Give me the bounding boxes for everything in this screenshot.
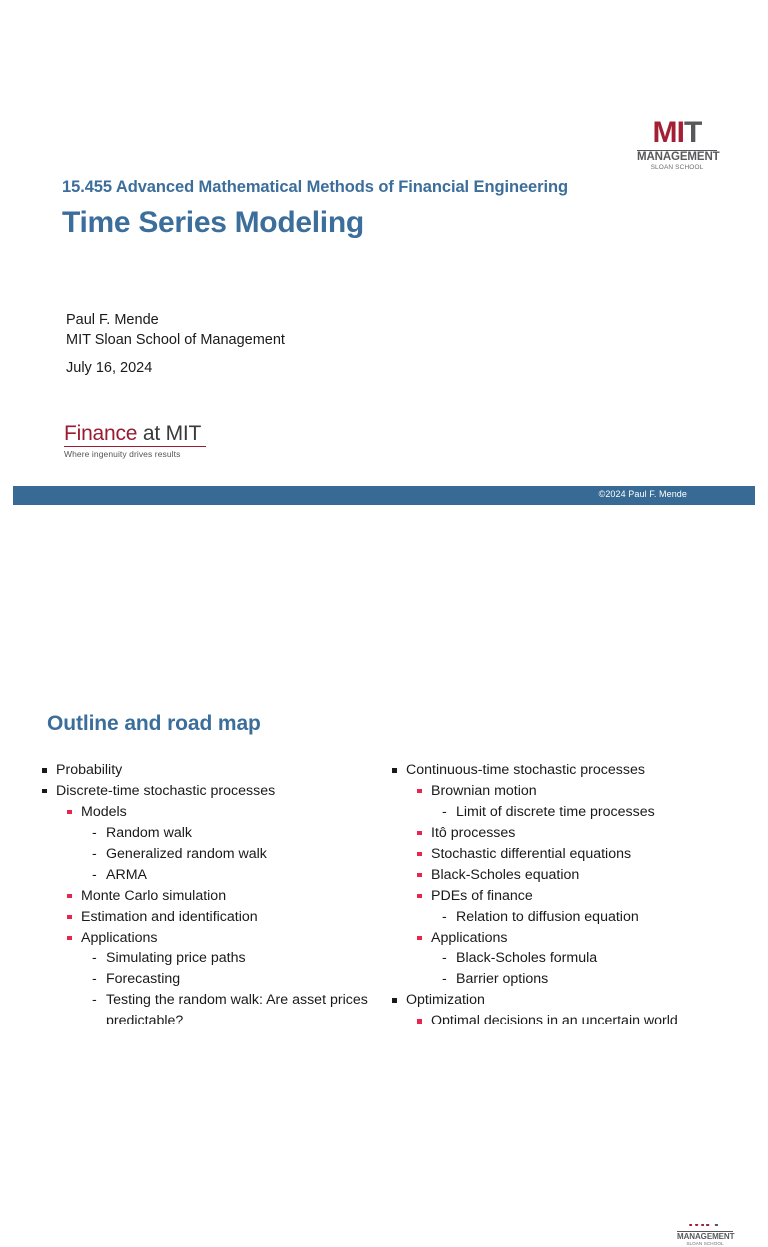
outline-item-label: Brownian motion bbox=[431, 781, 762, 801]
mit-letter-t: T bbox=[684, 116, 701, 149]
outline-item-label: PDEs of finance bbox=[431, 886, 762, 906]
finance-word: Finance bbox=[64, 422, 137, 445]
author-affiliation: MIT Sloan School of Management bbox=[66, 330, 285, 350]
outline-item-level-3: -ARMA bbox=[42, 865, 382, 885]
outline-item-level-1: Probability bbox=[42, 760, 382, 780]
outline-item-label: Random walk bbox=[106, 823, 382, 843]
outline-item-label: Estimation and identification bbox=[81, 907, 382, 927]
outline-heading: Outline and road map bbox=[47, 712, 261, 736]
outline-right-column: Continuous-time stochastic processesBrow… bbox=[392, 760, 762, 1032]
outline-item-level-2: Models bbox=[42, 802, 382, 822]
outline-item-label: Applications bbox=[81, 928, 382, 948]
outline-item-level-3: -Relation to diffusion equation bbox=[392, 907, 762, 927]
outline-item-label: Probability bbox=[56, 760, 382, 780]
outline-left-column: ProbabilityDiscrete-time stochastic proc… bbox=[42, 760, 382, 1032]
outline-item-label: Black-Scholes formula bbox=[456, 948, 762, 968]
outline-item-label: Discrete-time stochastic processes bbox=[56, 781, 382, 801]
slide-deck-page: MIT MANAGEMENT SLOAN SCHOOL 15.455 Advan… bbox=[0, 0, 768, 1024]
mit-letter-m: M bbox=[653, 116, 677, 149]
mit-wordmark: MIT bbox=[637, 118, 717, 148]
mit-management-label: MANAGEMENT bbox=[677, 1231, 733, 1241]
outline-item-label: Monte Carlo simulation bbox=[81, 886, 382, 906]
outline-item-label: Black-Scholes equation bbox=[431, 865, 762, 885]
finance-logo-divider bbox=[64, 446, 206, 447]
outline-item-level-2: Estimation and identification bbox=[42, 907, 382, 927]
outline-item-label: Models bbox=[81, 802, 382, 822]
author-block: Paul F. Mende MIT Sloan School of Manage… bbox=[66, 310, 285, 350]
dash-marker-icon: - bbox=[442, 948, 456, 968]
dash-marker-icon: - bbox=[442, 907, 456, 927]
outline-item-level-2: Itô processes bbox=[392, 823, 762, 843]
mit-management-label: MANAGEMENT bbox=[637, 150, 717, 164]
copyright-notice: ©2024 Paul F. Mende bbox=[599, 489, 687, 499]
mit-sloan-school-label: SLOAN SCHOOL bbox=[677, 1242, 733, 1247]
outline-item-level-2: Applications bbox=[392, 928, 762, 948]
outline-item-level-2: Monte Carlo simulation bbox=[42, 886, 382, 906]
presentation-date: July 16, 2024 bbox=[66, 360, 152, 376]
outline-item-level-3: -Forecasting bbox=[42, 969, 382, 989]
outline-item-level-1: Continuous-time stochastic processes bbox=[392, 760, 762, 780]
finance-at-mit-logo: Finance at MIT Where ingenuity drives re… bbox=[64, 422, 214, 459]
outline-item-level-3: -Barrier options bbox=[392, 969, 762, 989]
dash-marker-icon: - bbox=[92, 865, 106, 885]
at-word: at bbox=[137, 422, 165, 445]
dash-marker-icon: - bbox=[442, 802, 456, 822]
mit-word: MIT bbox=[166, 422, 202, 445]
dash-marker-icon: - bbox=[92, 823, 106, 843]
outline-item-level-3: -Limit of discrete time processes bbox=[392, 802, 762, 822]
outline-item-level-3: -Black-Scholes formula bbox=[392, 948, 762, 968]
page-title: Time Series Modeling bbox=[62, 206, 364, 240]
outline-item-level-2: Stochastic differential equations bbox=[392, 844, 762, 864]
outline-item-level-2: PDEs of finance bbox=[392, 886, 762, 906]
author-name: Paul F. Mende bbox=[66, 310, 285, 330]
mit-sloan-school-label: SLOAN SCHOOL bbox=[637, 165, 717, 172]
outline-item-level-3: -Generalized random walk bbox=[42, 844, 382, 864]
outline-item-label: Stochastic differential equations bbox=[431, 844, 762, 864]
outline-item-label: ARMA bbox=[106, 865, 382, 885]
course-subtitle: 15.455 Advanced Mathematical Methods of … bbox=[62, 178, 568, 197]
outline-item-label: Itô processes bbox=[431, 823, 762, 843]
outline-item-level-3: -Simulating price paths bbox=[42, 948, 382, 968]
outline-item-label: Optimization bbox=[406, 990, 762, 1010]
page-bottom-clip bbox=[0, 1024, 768, 1224]
mit-letter-i: I bbox=[677, 116, 684, 149]
finance-tagline: Where ingenuity drives results bbox=[64, 449, 214, 459]
outline-item-label: Barrier options bbox=[456, 969, 762, 989]
finance-at-mit-wordmark: Finance at MIT bbox=[64, 422, 214, 445]
dash-marker-icon: - bbox=[442, 969, 456, 989]
outline-item-label: Applications bbox=[431, 928, 762, 948]
dash-marker-icon: - bbox=[92, 948, 106, 968]
outline-item-label: Limit of discrete time processes bbox=[456, 802, 762, 822]
outline-item-level-2: Brownian motion bbox=[392, 781, 762, 801]
footer-bar: ©2024 Paul F. Mende bbox=[13, 486, 755, 505]
outline-slide: MIT MANAGEMENT SLOAN SCHOOL Outline and … bbox=[0, 512, 768, 1024]
outline-item-label: Relation to diffusion equation bbox=[456, 907, 762, 927]
outline-item-level-2: Applications bbox=[42, 928, 382, 948]
title-slide: MIT MANAGEMENT SLOAN SCHOOL 15.455 Advan… bbox=[0, 0, 768, 512]
outline-item-level-3: -Random walk bbox=[42, 823, 382, 843]
outline-item-label: Simulating price paths bbox=[106, 948, 382, 968]
outline-item-level-1: Discrete-time stochastic processes bbox=[42, 781, 382, 801]
dash-marker-icon: - bbox=[92, 969, 106, 989]
outline-item-level-1: Optimization bbox=[392, 990, 762, 1010]
outline-item-level-2: Black-Scholes equation bbox=[392, 865, 762, 885]
mit-sloan-management-logo: MIT MANAGEMENT SLOAN SCHOOL bbox=[637, 118, 717, 172]
dash-marker-icon: - bbox=[92, 844, 106, 864]
outline-item-label: Continuous-time stochastic processes bbox=[406, 760, 762, 780]
outline-item-label: Generalized random walk bbox=[106, 844, 382, 864]
outline-item-label: Forecasting bbox=[106, 969, 382, 989]
dash-marker-icon: - bbox=[92, 990, 106, 1010]
